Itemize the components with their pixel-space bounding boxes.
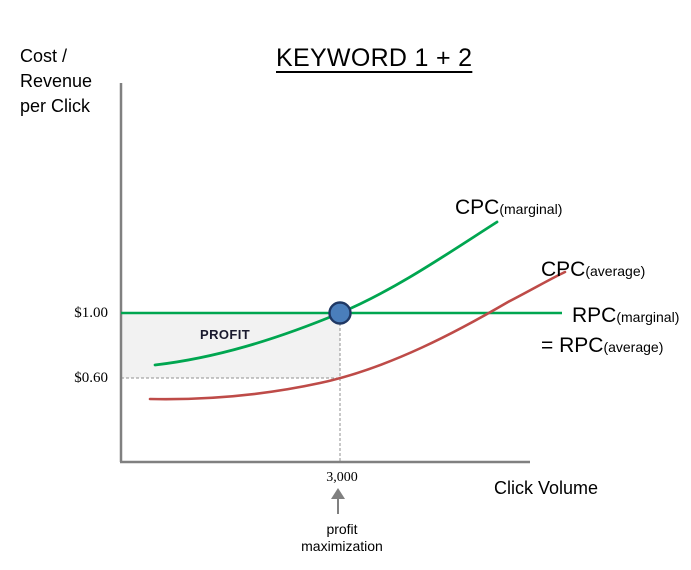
series-label-rpc-average-main: = RPC xyxy=(541,334,603,357)
series-label-rpc-average-sub: (average) xyxy=(603,339,663,355)
chart-title: KEYWORD 1 + 2 xyxy=(276,44,472,73)
series-label-cpc-average-sub: (average) xyxy=(585,263,645,279)
series-label-rpc-marginal: RPC(marginal) xyxy=(572,304,679,328)
chart-canvas: KEYWORD 1 + 2 Cost / Revenue per Click C… xyxy=(0,0,691,570)
series-label-rpc-average: = RPC(average) xyxy=(541,334,663,358)
up-arrow-icon xyxy=(331,488,345,514)
series-label-cpc-marginal-sub: (marginal) xyxy=(499,201,562,217)
x-axis-title: Click Volume xyxy=(494,478,598,499)
profit-maximization-note: profit maximization xyxy=(282,521,402,555)
profit-shaded-region xyxy=(121,313,340,378)
series-label-cpc-marginal: CPC(marginal) xyxy=(455,196,562,220)
y-tick-label-1-00: $1.00 xyxy=(46,305,108,322)
y-axis-title: Cost / Revenue per Click xyxy=(20,44,92,119)
series-label-rpc-marginal-main: RPC xyxy=(572,304,616,327)
series-label-cpc-average: CPC(average) xyxy=(541,258,645,282)
series-label-rpc-marginal-sub: (marginal) xyxy=(616,309,679,325)
y-tick-label-0-60: $0.60 xyxy=(46,370,108,387)
equilibrium-point-marker xyxy=(330,303,351,324)
x-tick-label-3000: 3,000 xyxy=(307,470,377,486)
profit-area-label: PROFIT xyxy=(200,327,250,342)
series-label-cpc-average-main: CPC xyxy=(541,258,585,281)
series-label-cpc-marginal-main: CPC xyxy=(455,196,499,219)
